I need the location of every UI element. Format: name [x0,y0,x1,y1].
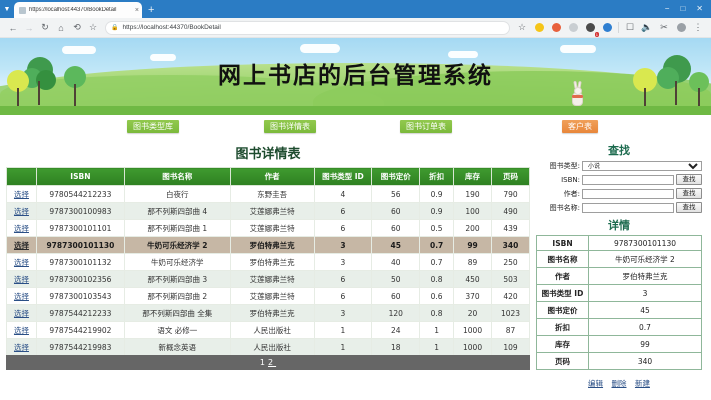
cell-discount: 0.9 [420,186,454,203]
search-name-label: 图书名称: [536,203,580,213]
cell-price: 18 [372,339,420,356]
extension-icon-3[interactable] [565,20,581,36]
cell-type-id: 4 [314,186,372,203]
bookmark-icon[interactable]: ☆ [85,20,101,36]
cell-pages: 490 [492,203,530,220]
cell-type-id: 6 [314,271,372,288]
row-select-cell: 选择 [7,339,37,356]
extension-icon-2[interactable] [548,20,564,36]
history-icon[interactable]: ⟲ [69,20,85,36]
cell-pages: 503 [492,271,530,288]
cell-price: 60 [372,203,420,220]
detail-row: ISBN9787300101130 [537,236,702,251]
favicon-icon [19,7,26,14]
cell-discount: 1 [420,322,454,339]
toolbar-right-icons: ☆ 1 ☐ 🔈 ✂ ⋮ [514,20,706,36]
cell-pages: 790 [492,186,530,203]
page-content: 网上书店的后台管理系统 图书类型库 图书详情表 图书订单表 客户表 图书详情表 … [0,38,711,400]
row-select-cell: 选择 [7,322,37,339]
cloud-decoration [560,45,596,53]
detail-value: 3 [589,285,702,302]
detail-row: 作者罗伯特弗兰克 [537,268,702,285]
pagination-current: 1 [260,358,268,367]
tab-title: https://localhost:44370/BookDetail [29,7,133,13]
address-bar[interactable]: 🔒 https://localhost:44370/BookDetail [105,21,510,35]
cell-stock: 89 [454,254,492,271]
search-title: 查找 [536,142,702,158]
browser-toolbar: ← → ↻ ⌂ ⟲ ☆ 🔒 https://localhost:44370/Bo… [0,18,711,38]
cell-type-id: 3 [314,305,372,322]
close-tab-icon[interactable]: × [135,7,139,14]
cell-author: 艾莲娜弗兰特 [230,271,314,288]
pagination-next[interactable]: 2 [268,358,276,367]
cell-name: 白夜行 [124,186,230,203]
cell-isbn: 9787544212233 [36,305,124,322]
detail-row: 页码340 [537,353,702,370]
detail-row: 折扣0.7 [537,319,702,336]
browser-tab[interactable]: https://localhost:44370/BookDetail × [14,2,142,18]
detail-table-body: ISBN9787300101130图书名称牛奶可乐经济学 2作者罗伯特弗兰克图书… [537,236,702,370]
detail-value: 45 [589,302,702,319]
detail-value: 罗伯特弗兰克 [589,268,702,285]
nav-item-book-details[interactable]: 图书详情表 [264,120,316,133]
cell-isbn: 9787300101130 [36,237,124,254]
minimize-icon[interactable]: − [665,5,670,13]
reload-icon[interactable]: ↻ [37,20,53,36]
table-row: 选择9787300101132牛奶可乐经济学罗伯特弗兰克3400.789250 [7,254,530,271]
cell-type-id: 3 [314,237,372,254]
cell-stock: 99 [454,237,492,254]
cell-price: 120 [372,305,420,322]
detail-key: 图书名称 [537,251,589,268]
browser-menu-icon[interactable]: ⋮ [690,20,706,36]
cell-author: 东野圭吾 [230,186,314,203]
cell-stock: 1000 [454,322,492,339]
cell-isbn: 9780544212233 [36,186,124,203]
cell-name: 牛奶可乐经济学 2 [124,237,230,254]
detail-title: 详情 [536,217,702,233]
window-controls: − □ ✕ [665,0,709,18]
select-row-link[interactable]: 选择 [14,343,29,352]
th-stock: 库存 [454,168,492,186]
detail-value: 99 [589,336,702,353]
table-row: 选择9787300101101那不列斯四部曲 1艾莲娜弗兰特6600.52004… [7,220,530,237]
select-row-link[interactable]: 选择 [14,292,29,301]
extension-icon-1[interactable] [531,20,547,36]
search-row-name: 图书名称: 查找 [536,202,702,213]
select-row-link[interactable]: 选择 [14,326,29,335]
book-table: ISBN 图书名称 作者 图书类型 ID 图书定价 折扣 库存 页码 选择978… [6,167,530,356]
detail-key: ISBN [537,236,589,251]
cell-isbn: 9787544219902 [36,322,124,339]
cell-price: 56 [372,186,420,203]
detail-key: 作者 [537,268,589,285]
th-discount: 折扣 [420,168,454,186]
cell-price: 50 [372,271,420,288]
mute-icon[interactable]: 🔈 [639,20,655,36]
table-row: 选择9787300103543那不列斯四部曲 2艾莲娜弗兰特6600.63704… [7,288,530,305]
select-row-link[interactable]: 选择 [14,207,29,216]
cell-pages: 250 [492,254,530,271]
cell-name: 那不列斯四部曲 3 [124,271,230,288]
cell-discount: 1 [420,339,454,356]
cell-author: 罗伯特弗兰克 [230,305,314,322]
cell-stock: 1000 [454,339,492,356]
cell-stock: 100 [454,203,492,220]
cell-price: 24 [372,322,420,339]
cell-discount: 0.9 [420,203,454,220]
search-row-isbn: ISBN: 查找 [536,174,702,185]
cell-type-id: 6 [314,220,372,237]
cell-discount: 0.8 [420,305,454,322]
cell-stock: 450 [454,271,492,288]
detail-value: 340 [589,353,702,370]
url-text: https://localhost:44370/BookDetail [122,24,220,31]
detail-key: 库存 [537,336,589,353]
cell-type-id: 6 [314,288,372,305]
row-select-cell: 选择 [7,220,37,237]
cloud-decoration [300,44,340,53]
book-type-select[interactable]: 小说 [582,161,702,171]
detail-value: 9787300101130 [589,236,702,251]
cell-pages: 439 [492,220,530,237]
table-row: 选择9787544219983新概念英语人民出版社11811000109 [7,339,530,356]
cell-pages: 420 [492,288,530,305]
forward-icon[interactable]: → [21,20,37,36]
cell-price: 60 [372,220,420,237]
select-row-link[interactable]: 选择 [14,224,29,233]
table-row: 选择9787544212233那不列斯四部曲 全集罗伯特弗兰克31200.820… [7,305,530,322]
row-select-cell: 选择 [7,237,37,254]
browser-chrome: ▼ https://localhost:44370/BookDetail × +… [0,0,711,38]
cell-name: 那不列斯四部曲 2 [124,288,230,305]
screenshot-icon[interactable]: ☐ [622,20,638,36]
select-row-link[interactable]: 选择 [14,258,29,267]
cell-type-id: 6 [314,203,372,220]
detail-actions: 编辑 删除 新建 [536,370,702,393]
table-title: 图书详情表 [6,143,530,162]
cell-discount: 0.8 [420,271,454,288]
cell-name: 那不列斯四部曲 全集 [124,305,230,322]
main-area: 图书详情表 ISBN 图书名称 作者 图书类型 ID 图书定价 折扣 库存 页码 [0,139,711,393]
extension-icon-5[interactable] [599,20,615,36]
th-select [7,168,37,186]
cell-type-id: 1 [314,322,372,339]
maximize-icon[interactable]: □ [680,5,685,13]
th-name: 图书名称 [124,168,230,186]
nav-item-customers[interactable]: 客户表 [562,120,598,133]
select-row-link[interactable]: 选择 [14,275,29,284]
row-select-cell: 选择 [7,203,37,220]
th-isbn: ISBN [36,168,124,186]
tabstrip-menu-icon[interactable]: ▼ [0,0,14,18]
table-row: 选择9787300100983那不列斯四部曲 4艾莲娜弗兰特6600.91004… [7,203,530,220]
search-isbn-label: ISBN: [536,176,580,184]
home-icon[interactable]: ⌂ [53,20,69,36]
book-list-section: 图书详情表 ISBN 图书名称 作者 图书类型 ID 图书定价 折扣 库存 页码 [6,139,530,393]
detail-key: 折扣 [537,319,589,336]
cell-name: 语文 必修一 [124,322,230,339]
cell-isbn: 9787300103543 [36,288,124,305]
row-select-cell: 选择 [7,254,37,271]
cloud-decoration [62,46,96,54]
extension-icon-4[interactable]: 1 [582,20,598,36]
detail-key: 页码 [537,353,589,370]
cell-discount: 0.6 [420,288,454,305]
detail-value: 0.7 [589,319,702,336]
detail-value: 牛奶可乐经济学 2 [589,251,702,268]
cell-isbn: 9787300100983 [36,203,124,220]
grass-decoration [0,106,711,115]
nav-item-book-types[interactable]: 图书类型库 [127,120,179,133]
detail-row: 图书定价45 [537,302,702,319]
cell-discount: 0.5 [420,220,454,237]
cell-author: 艾莲娜弗兰特 [230,203,314,220]
th-pages: 页码 [492,168,530,186]
site-banner: 网上书店的后台管理系统 [0,38,711,117]
cell-author: 罗伯特弗兰克 [230,237,314,254]
cell-author: 艾莲娜弗兰特 [230,220,314,237]
cell-discount: 0.7 [420,237,454,254]
cell-author: 艾莲娜弗兰特 [230,288,314,305]
profile-avatar-icon[interactable] [673,20,689,36]
cell-pages: 87 [492,322,530,339]
cell-stock: 20 [454,305,492,322]
cut-icon[interactable]: ✂ [656,20,672,36]
page-title: 网上书店的后台管理系统 [0,56,711,90]
table-row: 选择9787300101130牛奶可乐经济学 2罗伯特弗兰克3450.79934… [7,237,530,254]
row-select-cell: 选择 [7,186,37,203]
search-author-button[interactable]: 查找 [676,188,702,199]
delete-link[interactable]: 删除 [612,379,627,388]
cell-type-id: 3 [314,254,372,271]
select-row-link[interactable]: 选择 [14,309,29,318]
cell-name: 新概念英语 [124,339,230,356]
author-input[interactable] [582,189,674,199]
row-select-cell: 选择 [7,305,37,322]
sidebar-section: 查找 图书类型: 小说 ISBN: 查找 作者: 查找 [536,139,702,393]
th-author: 作者 [230,168,314,186]
cell-pages: 340 [492,237,530,254]
close-window-icon[interactable]: ✕ [696,5,703,13]
cell-author: 人民出版社 [230,339,314,356]
cell-name: 牛奶可乐经济学 [124,254,230,271]
cell-author: 罗伯特弗兰克 [230,254,314,271]
cell-isbn: 9787300101101 [36,220,124,237]
cell-isbn: 9787300101132 [36,254,124,271]
cell-stock: 370 [454,288,492,305]
cell-pages: 1023 [492,305,530,322]
cell-name: 那不列斯四部曲 4 [124,203,230,220]
cell-discount: 0.7 [420,254,454,271]
toolbar-divider [618,22,619,33]
detail-row: 图书类型 ID3 [537,285,702,302]
edit-link[interactable]: 编辑 [588,379,603,388]
book-name-input[interactable] [582,203,674,213]
search-name-button[interactable]: 查找 [676,202,702,213]
cell-price: 45 [372,237,420,254]
th-price: 图书定价 [372,168,420,186]
new-link[interactable]: 新建 [635,379,650,388]
detail-row: 库存99 [537,336,702,353]
isbn-input[interactable] [582,175,674,185]
select-row-link[interactable]: 选择 [14,241,29,250]
cell-isbn: 9787300102356 [36,271,124,288]
table-row: 选择9787544219902语文 必修一人民出版社1241100087 [7,322,530,339]
table-row: 选择9780544212233白夜行东野圭吾4560.9190790 [7,186,530,203]
cell-type-id: 1 [314,339,372,356]
detail-key: 图书类型 ID [537,285,589,302]
cell-stock: 200 [454,220,492,237]
search-author-label: 作者: [536,189,580,199]
cell-isbn: 9787544219983 [36,339,124,356]
main-nav: 图书类型库 图书详情表 图书订单表 客户表 [0,117,711,139]
cell-stock: 190 [454,186,492,203]
cell-price: 40 [372,254,420,271]
nav-item-book-orders[interactable]: 图书订单表 [400,120,452,133]
select-row-link[interactable]: 选择 [14,190,29,199]
new-tab-button[interactable]: + [148,5,154,16]
search-isbn-button[interactable]: 查找 [676,174,702,185]
search-row-type: 图书类型: 小说 [536,161,702,171]
cell-name: 那不列斯四部曲 1 [124,220,230,237]
detail-row: 图书名称牛奶可乐经济学 2 [537,251,702,268]
tab-strip: ▼ https://localhost:44370/BookDetail × +… [0,0,711,18]
star-bookmark-icon[interactable]: ☆ [514,20,530,36]
back-icon[interactable]: ← [5,20,21,36]
detail-key: 图书定价 [537,302,589,319]
detail-table: ISBN9787300101130图书名称牛奶可乐经济学 2作者罗伯特弗兰克图书… [536,235,702,370]
cell-price: 60 [372,288,420,305]
lock-icon: 🔒 [111,24,118,31]
table-header-row: ISBN 图书名称 作者 图书类型 ID 图书定价 折扣 库存 页码 [7,168,530,186]
pagination: 12 [6,355,530,370]
cell-pages: 109 [492,339,530,356]
search-type-label: 图书类型: [536,161,580,171]
search-row-author: 作者: 查找 [536,188,702,199]
extension-badge: 1 [595,32,599,37]
row-select-cell: 选择 [7,288,37,305]
th-type-id: 图书类型 ID [314,168,372,186]
search-panel: 查找 图书类型: 小说 ISBN: 查找 作者: 查找 [536,142,702,213]
table-body: 选择9780544212233白夜行东野圭吾4560.9190790选择9787… [7,186,530,356]
cell-author: 人民出版社 [230,322,314,339]
table-row: 选择9787300102356那不列斯四部曲 3艾莲娜弗兰特6500.84505… [7,271,530,288]
row-select-cell: 选择 [7,271,37,288]
